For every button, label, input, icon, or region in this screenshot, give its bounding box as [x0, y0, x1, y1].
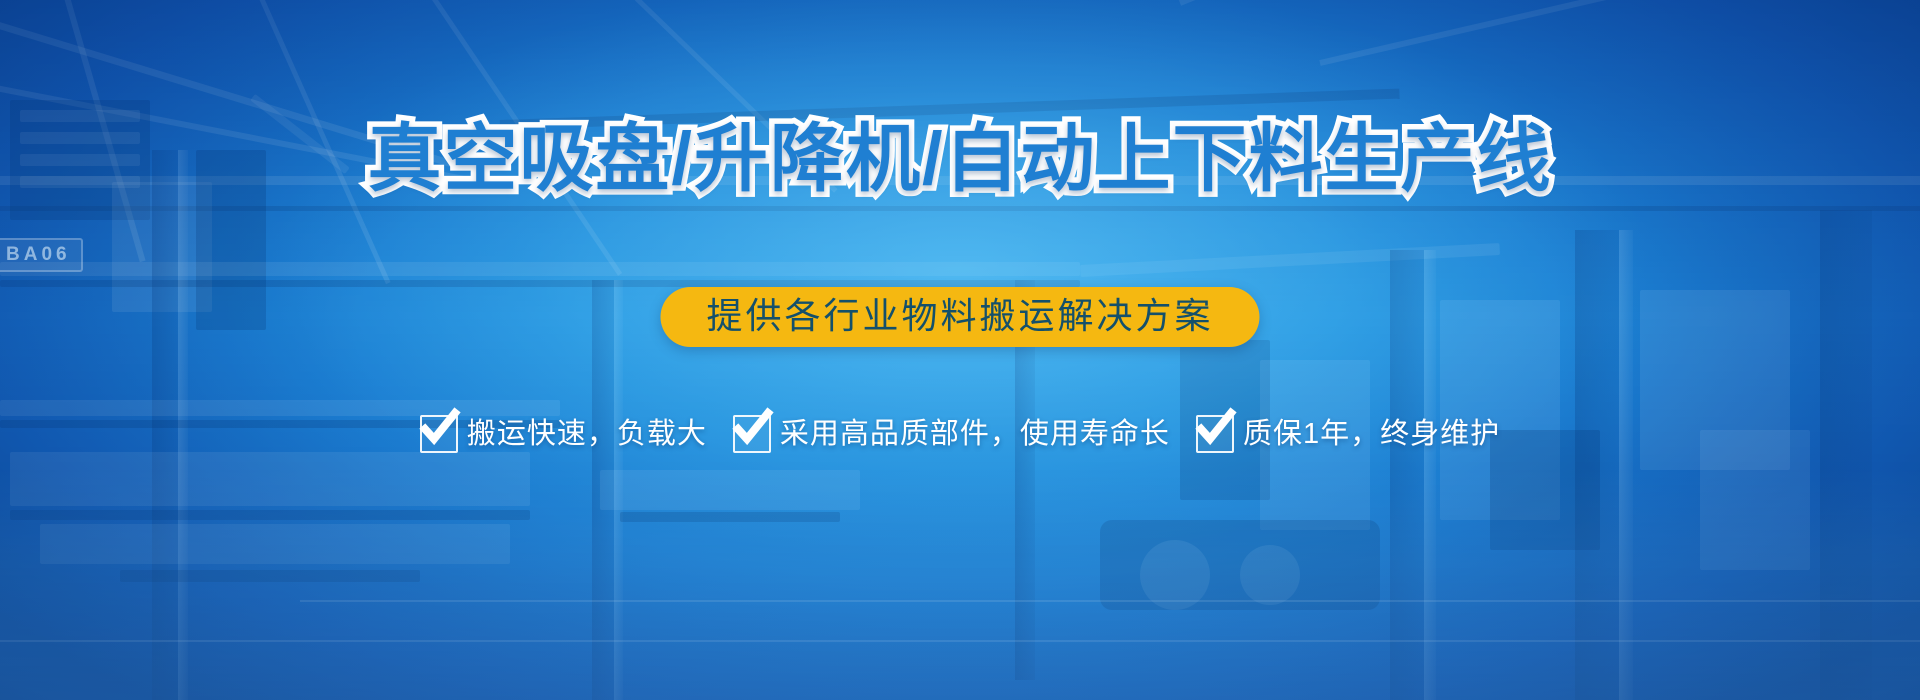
- feature-item: 采用高品质部件，使用寿命长: [733, 415, 1170, 453]
- subtitle-pill: 提供各行业物料搬运解决方案: [660, 287, 1259, 347]
- feature-label: 搬运快速，负载大: [467, 420, 707, 449]
- banner-content: 真空吸盘/升降机/自动上下料生产线 提供各行业物料搬运解决方案 搬运快速，负载大: [0, 0, 1920, 700]
- checkbox-checked-icon: [420, 415, 458, 453]
- feature-item: 质保1年，终身维护: [1196, 415, 1500, 453]
- feature-label: 质保1年，终身维护: [1243, 420, 1500, 449]
- checkbox-checked-icon: [733, 415, 771, 453]
- feature-item: 搬运快速，负载大: [420, 415, 707, 453]
- banner-title: 真空吸盘/升降机/自动上下料生产线: [0, 118, 1920, 201]
- feature-label: 采用高品质部件，使用寿命长: [780, 420, 1170, 449]
- subtitle-text: 提供各行业物料搬运解决方案: [706, 298, 1213, 334]
- checkbox-checked-icon: [1196, 415, 1234, 453]
- promo-banner: BA06 真空吸盘/升降机/自动上下料生产线 提供各行业物料搬运解决方案 搬运快…: [0, 0, 1920, 700]
- feature-list: 搬运快速，负载大 采用高品质部件，使用寿命长 质保1年，终身维护: [0, 415, 1920, 453]
